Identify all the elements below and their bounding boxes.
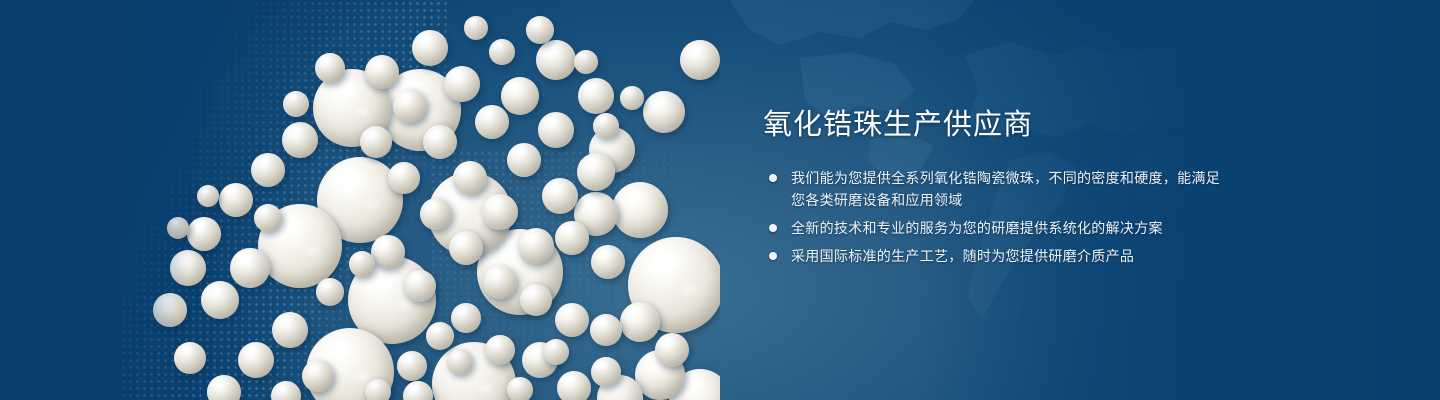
bead — [187, 217, 221, 251]
bead — [388, 162, 420, 194]
bead — [591, 357, 621, 387]
bead — [543, 339, 569, 365]
bead — [412, 30, 448, 66]
bead — [577, 153, 615, 191]
bead — [680, 40, 720, 80]
bead — [282, 122, 318, 158]
bead — [475, 105, 509, 139]
bead — [518, 228, 554, 264]
bead — [170, 250, 206, 286]
bead — [230, 248, 270, 288]
bead — [620, 86, 644, 110]
bead — [302, 360, 334, 392]
bead — [590, 314, 622, 346]
bead — [482, 194, 518, 230]
bead — [238, 342, 274, 378]
list-item: 采用国际标准的生产工艺，随时为您提供研磨介质产品 — [763, 245, 1233, 267]
bead — [219, 183, 253, 217]
bead — [365, 379, 391, 400]
bead — [485, 335, 515, 365]
bead — [316, 278, 344, 306]
bead — [201, 281, 239, 319]
bead — [449, 231, 483, 265]
hero-banner: 氧化锆珠生产供应商 我们能为您提供全系列氧化锆陶瓷微珠，不同的密度和硬度，能满足… — [0, 0, 1440, 400]
bead — [453, 161, 487, 195]
list-item-label: 全新的技术和专业的服务为您的研磨提供系统化的解决方案 — [791, 220, 1163, 236]
bead — [272, 312, 308, 348]
bead — [578, 78, 614, 114]
bead — [444, 66, 480, 102]
bead — [251, 153, 285, 187]
bead — [451, 303, 481, 333]
bead — [464, 16, 488, 40]
bead — [423, 125, 457, 159]
list-item-label: 我们能为您提供全系列氧化锆陶瓷微珠，不同的密度和硬度，能满足您各类研磨设备和应用… — [791, 170, 1220, 208]
bead — [655, 333, 689, 367]
bead — [507, 377, 533, 400]
bead — [526, 16, 554, 44]
bead — [483, 265, 517, 299]
banner-content: 氧化锆珠生产供应商 我们能为您提供全系列氧化锆陶瓷微珠，不同的密度和硬度，能满足… — [763, 108, 1233, 273]
bead — [153, 293, 187, 327]
bead — [555, 221, 589, 255]
feature-list: 我们能为您提供全系列氧化锆陶瓷微珠，不同的密度和硬度，能满足您各类研磨设备和应用… — [763, 167, 1233, 267]
bead — [555, 303, 589, 337]
bead — [360, 126, 392, 158]
bead — [426, 322, 454, 350]
bead — [371, 235, 405, 269]
zirconia-beads-image — [0, 0, 720, 400]
bead — [197, 185, 219, 207]
bead — [538, 112, 574, 148]
bead — [574, 50, 598, 74]
bullet-dot-icon — [769, 224, 777, 232]
bead — [536, 40, 576, 80]
bead — [397, 351, 427, 381]
bead — [447, 349, 473, 375]
bead — [542, 178, 578, 214]
bullet-dot-icon — [769, 174, 777, 182]
bead — [283, 91, 309, 117]
bead — [420, 198, 452, 230]
bead — [507, 143, 541, 177]
list-item: 全新的技术和专业的服务为您的研磨提供系统化的解决方案 — [763, 217, 1233, 239]
bead — [167, 217, 189, 239]
bead — [489, 39, 515, 65]
bead — [207, 375, 241, 400]
bead — [349, 251, 375, 277]
bead — [271, 381, 301, 400]
bead — [612, 182, 668, 238]
bead — [404, 270, 436, 302]
bead — [393, 89, 427, 123]
list-item: 我们能为您提供全系列氧化锆陶瓷微珠，不同的密度和硬度，能满足您各类研磨设备和应用… — [763, 167, 1233, 211]
bead — [520, 284, 552, 316]
bead — [593, 113, 619, 139]
bullet-dot-icon — [769, 252, 777, 260]
bead — [315, 53, 345, 83]
bead — [174, 342, 206, 374]
bead — [501, 77, 539, 115]
bead — [557, 371, 591, 400]
bead — [620, 302, 660, 342]
bead — [254, 204, 282, 232]
bead — [365, 55, 399, 89]
bead — [591, 245, 625, 279]
list-item-label: 采用国际标准的生产工艺，随时为您提供研磨介质产品 — [791, 248, 1134, 264]
page-title: 氧化锆珠生产供应商 — [763, 108, 1233, 143]
bead — [403, 381, 433, 400]
bead — [643, 91, 685, 133]
